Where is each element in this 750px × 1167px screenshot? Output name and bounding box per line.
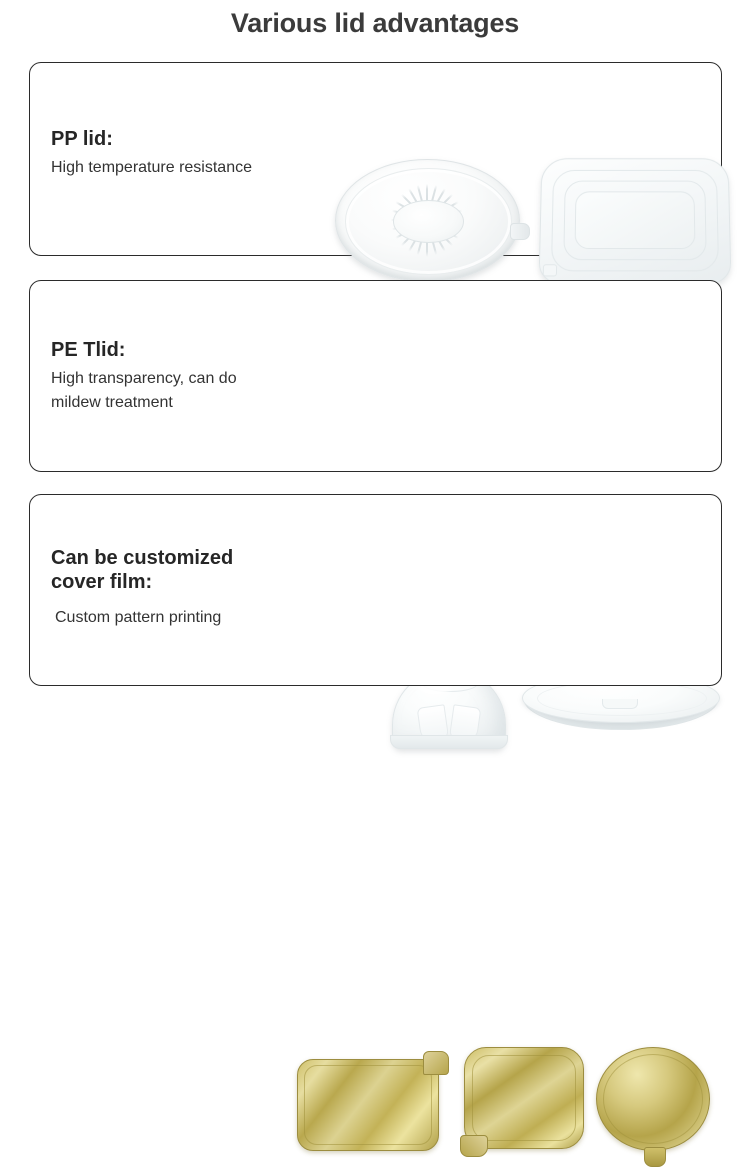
card-cover-film-subtext: Custom pattern printing bbox=[51, 598, 311, 631]
gold-rectangular-foil-tab bbox=[423, 1051, 449, 1075]
card-pp-lid-heading: PP lid: bbox=[51, 128, 311, 152]
rectangular-pp-lid-image bbox=[540, 157, 730, 283]
card-cover-film-text: Can be customized cover film: Custom pat… bbox=[51, 547, 311, 631]
rectangular-pp-lid-tab bbox=[543, 264, 557, 276]
card-pe-tlid-heading: PE Tlid: bbox=[51, 339, 311, 363]
gold-round-foil-inner-edge bbox=[603, 1054, 703, 1144]
gold-round-foil-tab bbox=[644, 1147, 666, 1167]
gold-square-foil-image bbox=[460, 1047, 586, 1157]
round-pp-lid-image bbox=[335, 159, 520, 282]
round-pp-lid-center bbox=[393, 200, 465, 243]
gold-square-foil-inner-edge bbox=[472, 1055, 576, 1141]
rectangular-pp-lid-body bbox=[538, 158, 731, 283]
page-title: Various lid advantages bbox=[0, 8, 750, 39]
gold-rectangular-foil-body bbox=[297, 1059, 439, 1151]
card-pp-lid: PP lid: High temperature resistance bbox=[29, 62, 722, 256]
gold-rectangular-foil-image bbox=[297, 1051, 449, 1149]
card-pe-tlid-text: PE Tlid: High transparency, can do milde… bbox=[51, 339, 311, 416]
card-pe-tlid-subtext: High transparency, can do mildew treatme… bbox=[51, 367, 311, 417]
card-pe-tlid: PE Tlid: High transparency, can do milde… bbox=[29, 280, 722, 472]
card-cover-film-heading: Can be customized cover film: bbox=[51, 547, 311, 594]
card-pp-lid-subtext: High temperature resistance bbox=[51, 156, 311, 181]
round-pp-lid-tab bbox=[510, 223, 530, 240]
card-pp-lid-text: PP lid: High temperature resistance bbox=[51, 128, 311, 180]
gold-square-foil-body bbox=[464, 1047, 584, 1149]
round-pp-lid-body bbox=[335, 159, 520, 282]
oval-pe-lid-notch bbox=[602, 699, 638, 709]
gold-round-foil-image bbox=[596, 1047, 714, 1159]
gold-square-foil-tab bbox=[460, 1135, 488, 1157]
dome-pe-lid-rim bbox=[390, 735, 508, 749]
rectangular-pp-lid-panel bbox=[574, 192, 695, 249]
lid-advantages-page: Various lid advantages PP lid: High temp… bbox=[0, 0, 750, 713]
card-cover-film: Can be customized cover film: Custom pat… bbox=[29, 494, 722, 686]
gold-rectangular-foil-inner-edge bbox=[304, 1065, 432, 1145]
gold-round-foil-body bbox=[596, 1047, 710, 1151]
